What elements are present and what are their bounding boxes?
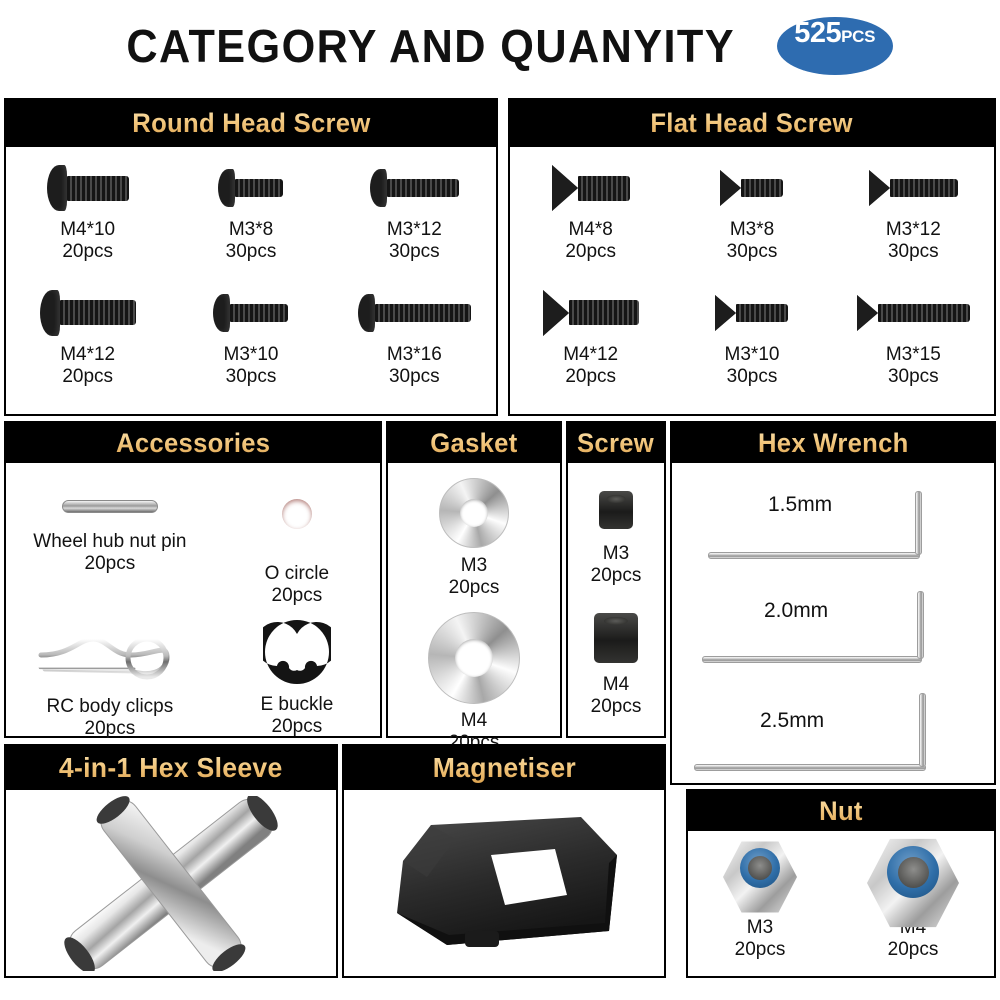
panel-screw: Screw M3 20pcs M4 20pcs bbox=[566, 421, 666, 738]
page-header: CATEGORY AND QUANYITY 525 PCS bbox=[0, 0, 1000, 92]
item-label: M3*12 30pcs bbox=[886, 219, 941, 264]
item-size: 2.5mm bbox=[760, 709, 824, 733]
item-size: M3*12 bbox=[886, 219, 941, 241]
grub-screw-icon bbox=[599, 491, 633, 529]
item-size: 2.0mm bbox=[764, 599, 828, 623]
item-qty: 30pcs bbox=[725, 366, 780, 388]
item-label: E buckle 20pcs bbox=[260, 694, 333, 739]
item-qty: 20pcs bbox=[265, 585, 329, 607]
item-qty: 20pcs bbox=[563, 366, 618, 388]
item-qty: 20pcs bbox=[565, 241, 616, 263]
panel-title-accessories: Accessories bbox=[116, 428, 270, 459]
badge-number: 525 bbox=[794, 17, 841, 50]
item-name: E buckle bbox=[260, 694, 333, 716]
item-size: M3*16 bbox=[387, 344, 442, 366]
item-cell: M3*10 30pcs bbox=[671, 282, 832, 389]
item-cell: O circle 20pcs bbox=[214, 463, 380, 608]
item-cell: M3*8 30pcs bbox=[671, 157, 832, 264]
item-name: Wheel hub nut pin bbox=[33, 531, 186, 553]
wheel-hub-nut-pin-icon bbox=[62, 500, 158, 513]
flat-head-screw-icon bbox=[552, 160, 630, 216]
item-size: M3 bbox=[735, 917, 786, 939]
item-cell: M4 20pcs bbox=[428, 610, 520, 755]
round-head-screw-icon bbox=[218, 160, 283, 216]
item-label: M3 20pcs bbox=[449, 555, 500, 600]
item-label: RC body clicps 20pcs bbox=[47, 696, 174, 741]
panel-title-screw: Screw bbox=[577, 428, 654, 459]
item-label: Wheel hub nut pin 20pcs bbox=[33, 531, 186, 576]
item-label: M4*10 20pcs bbox=[60, 219, 115, 264]
panel-accessories: Accessories Wheel hub nut pin 20pcs O ci… bbox=[4, 421, 382, 738]
item-cell: RC body clicps 20pcs bbox=[6, 608, 214, 741]
round-head-screw-icon bbox=[358, 285, 471, 341]
item-size: M4 bbox=[449, 710, 500, 732]
panel-hex-wrench: Hex Wrench 1.5mm 2.0mm 2.5mm bbox=[670, 421, 996, 785]
item-size: M3*10 bbox=[725, 344, 780, 366]
magnetiser-icon bbox=[369, 803, 639, 963]
item-cell: M4*12 20pcs bbox=[6, 282, 169, 389]
lock-nut-icon bbox=[723, 840, 797, 914]
item-cell: M4*10 20pcs bbox=[6, 157, 169, 264]
item-qty: 30pcs bbox=[224, 366, 279, 388]
item-cell: M3*8 30pcs bbox=[169, 157, 332, 264]
item-label: M3*8 30pcs bbox=[226, 219, 277, 264]
item-qty: 20pcs bbox=[47, 718, 174, 740]
item-label: M4*8 20pcs bbox=[565, 219, 616, 264]
item-cell: M3 20pcs bbox=[723, 837, 797, 962]
item-label: M3*8 30pcs bbox=[727, 219, 778, 264]
four-in-one-hex-sleeve-icon bbox=[21, 796, 321, 971]
item-label: M4*12 20pcs bbox=[60, 344, 115, 389]
item-size: M3*12 bbox=[387, 219, 442, 241]
item-qty: 20pcs bbox=[60, 366, 115, 388]
o-ring-icon bbox=[256, 473, 338, 555]
item-name: RC body clicps bbox=[47, 696, 174, 718]
flat-head-screw-icon bbox=[869, 160, 958, 216]
panel-header-hex-wrench: Hex Wrench bbox=[672, 423, 994, 463]
page-title: CATEGORY AND QUANYITY bbox=[127, 19, 736, 73]
panel-flat-head-screw: Flat Head Screw M4*8 20pcs M3*8 30pcs bbox=[508, 98, 996, 416]
flat-head-screw-icon bbox=[543, 285, 639, 341]
item-qty: 20pcs bbox=[449, 577, 500, 599]
flat-head-screw-icon bbox=[857, 285, 970, 341]
gasket-washer-icon bbox=[428, 612, 520, 704]
badge-unit: PCS bbox=[841, 27, 875, 47]
round-head-screw-icon bbox=[213, 285, 288, 341]
item-label: M3 20pcs bbox=[735, 917, 786, 962]
hex-wrench-icon bbox=[694, 764, 926, 771]
panel-round-head-screw: Round Head Screw M4*10 20pcs M3*8 30pcs bbox=[4, 98, 498, 416]
item-label: M3*12 30pcs bbox=[387, 219, 442, 264]
panel-header-accessories: Accessories bbox=[6, 423, 380, 463]
hex-wrench-icon bbox=[708, 552, 920, 559]
grub-screw-icon bbox=[594, 613, 638, 663]
item-qty: 20pcs bbox=[591, 565, 642, 587]
item-cell: M4*12 20pcs bbox=[510, 282, 671, 389]
panel-header-magnetiser: Magnetiser bbox=[344, 746, 664, 790]
gasket-washer-icon bbox=[439, 478, 509, 548]
item-cell: Wheel hub nut pin 20pcs bbox=[6, 463, 214, 608]
item-qty: 20pcs bbox=[60, 241, 115, 263]
hex-wrench-icon bbox=[919, 693, 926, 767]
round-head-screw-icon bbox=[370, 160, 459, 216]
item-qty: 30pcs bbox=[387, 366, 442, 388]
item-cell: E buckle 20pcs bbox=[214, 608, 380, 741]
item-cell: M4 20pcs bbox=[867, 837, 959, 962]
panel-title-flat-head-screw: Flat Head Screw bbox=[651, 108, 853, 139]
item-cell: M4*8 20pcs bbox=[510, 157, 671, 264]
flat-head-screw-icon bbox=[715, 285, 788, 341]
item-label: M3*10 30pcs bbox=[224, 344, 279, 389]
item-cell: 2.5mm bbox=[672, 673, 994, 781]
item-qty: 20pcs bbox=[888, 939, 939, 961]
item-label: M4*12 20pcs bbox=[563, 344, 618, 389]
panel-magnetiser: Magnetiser bbox=[342, 744, 666, 978]
item-cell: M3 20pcs bbox=[591, 481, 642, 588]
item-cell: M3*15 30pcs bbox=[833, 282, 994, 389]
panel-title-round-head-screw: Round Head Screw bbox=[132, 108, 370, 139]
item-qty: 20pcs bbox=[33, 553, 186, 575]
item-cell: 2.0mm bbox=[672, 569, 994, 673]
item-size: M3*10 bbox=[224, 344, 279, 366]
item-cell: M3*12 30pcs bbox=[833, 157, 994, 264]
panel-header-hex-sleeve: 4-in-1 Hex Sleeve bbox=[6, 746, 336, 790]
item-size: M3*8 bbox=[226, 219, 277, 241]
item-name: O circle bbox=[265, 563, 329, 585]
item-size: M3 bbox=[449, 555, 500, 577]
item-cell: M3*10 30pcs bbox=[169, 282, 332, 389]
item-qty: 30pcs bbox=[886, 241, 941, 263]
hex-wrench-icon bbox=[915, 491, 922, 555]
panel-header-round-head-screw: Round Head Screw bbox=[6, 100, 496, 147]
item-size: M4*8 bbox=[565, 219, 616, 241]
item-size: M3*15 bbox=[886, 344, 941, 366]
item-qty: 30pcs bbox=[387, 241, 442, 263]
item-cell: 1.5mm bbox=[672, 467, 994, 569]
lock-nut-icon bbox=[867, 837, 959, 929]
item-size: M4*12 bbox=[60, 344, 115, 366]
item-label: M3*16 30pcs bbox=[387, 344, 442, 389]
round-head-screw-icon bbox=[40, 285, 136, 341]
panel-header-nut: Nut bbox=[688, 791, 994, 831]
panel-title-hex-sleeve: 4-in-1 Hex Sleeve bbox=[59, 752, 283, 784]
item-label: M4 20pcs bbox=[591, 674, 642, 719]
panel-header-flat-head-screw: Flat Head Screw bbox=[510, 100, 994, 147]
item-label: O circle 20pcs bbox=[265, 563, 329, 608]
panel-header-gasket: Gasket bbox=[388, 423, 560, 463]
item-size: M3 bbox=[591, 543, 642, 565]
panel-gasket: Gasket M3 20pcs M4 20pcs bbox=[386, 421, 562, 738]
panel-title-magnetiser: Magnetiser bbox=[432, 752, 575, 784]
panel-header-screw: Screw bbox=[568, 423, 664, 463]
e-buckle-icon bbox=[263, 618, 331, 688]
panel-hex-sleeve: 4-in-1 Hex Sleeve bbox=[4, 744, 338, 978]
item-size: 1.5mm bbox=[768, 493, 832, 517]
round-head-screw-icon bbox=[47, 160, 129, 216]
item-qty: 30pcs bbox=[226, 241, 277, 263]
item-size: M4*10 bbox=[60, 219, 115, 241]
item-cell: M3*16 30pcs bbox=[333, 282, 496, 389]
item-size: M4*12 bbox=[563, 344, 618, 366]
item-qty: 20pcs bbox=[260, 716, 333, 738]
item-qty: 20pcs bbox=[735, 939, 786, 961]
rc-body-clip-icon bbox=[35, 625, 185, 689]
panel-title-hex-wrench: Hex Wrench bbox=[758, 428, 909, 459]
panel-title-gasket: Gasket bbox=[430, 428, 517, 459]
item-label: M3*10 30pcs bbox=[725, 344, 780, 389]
item-cell: M3 20pcs bbox=[439, 475, 509, 600]
item-cell: M3*12 30pcs bbox=[333, 157, 496, 264]
panel-title-nut: Nut bbox=[819, 796, 863, 827]
total-quantity-badge: 525 PCS bbox=[777, 17, 893, 75]
item-label: M3 20pcs bbox=[591, 543, 642, 588]
item-qty: 20pcs bbox=[591, 696, 642, 718]
panel-nut: Nut M3 20pcs M4 20pcs bbox=[686, 789, 996, 978]
hex-wrench-icon bbox=[917, 591, 924, 659]
item-label: M3*15 30pcs bbox=[886, 344, 941, 389]
flat-head-screw-icon bbox=[720, 160, 783, 216]
hex-wrench-icon bbox=[702, 656, 922, 663]
item-qty: 30pcs bbox=[727, 241, 778, 263]
item-size: M4 bbox=[591, 674, 642, 696]
item-cell: M4 20pcs bbox=[591, 606, 642, 719]
item-qty: 30pcs bbox=[886, 366, 941, 388]
item-size: M3*8 bbox=[727, 219, 778, 241]
